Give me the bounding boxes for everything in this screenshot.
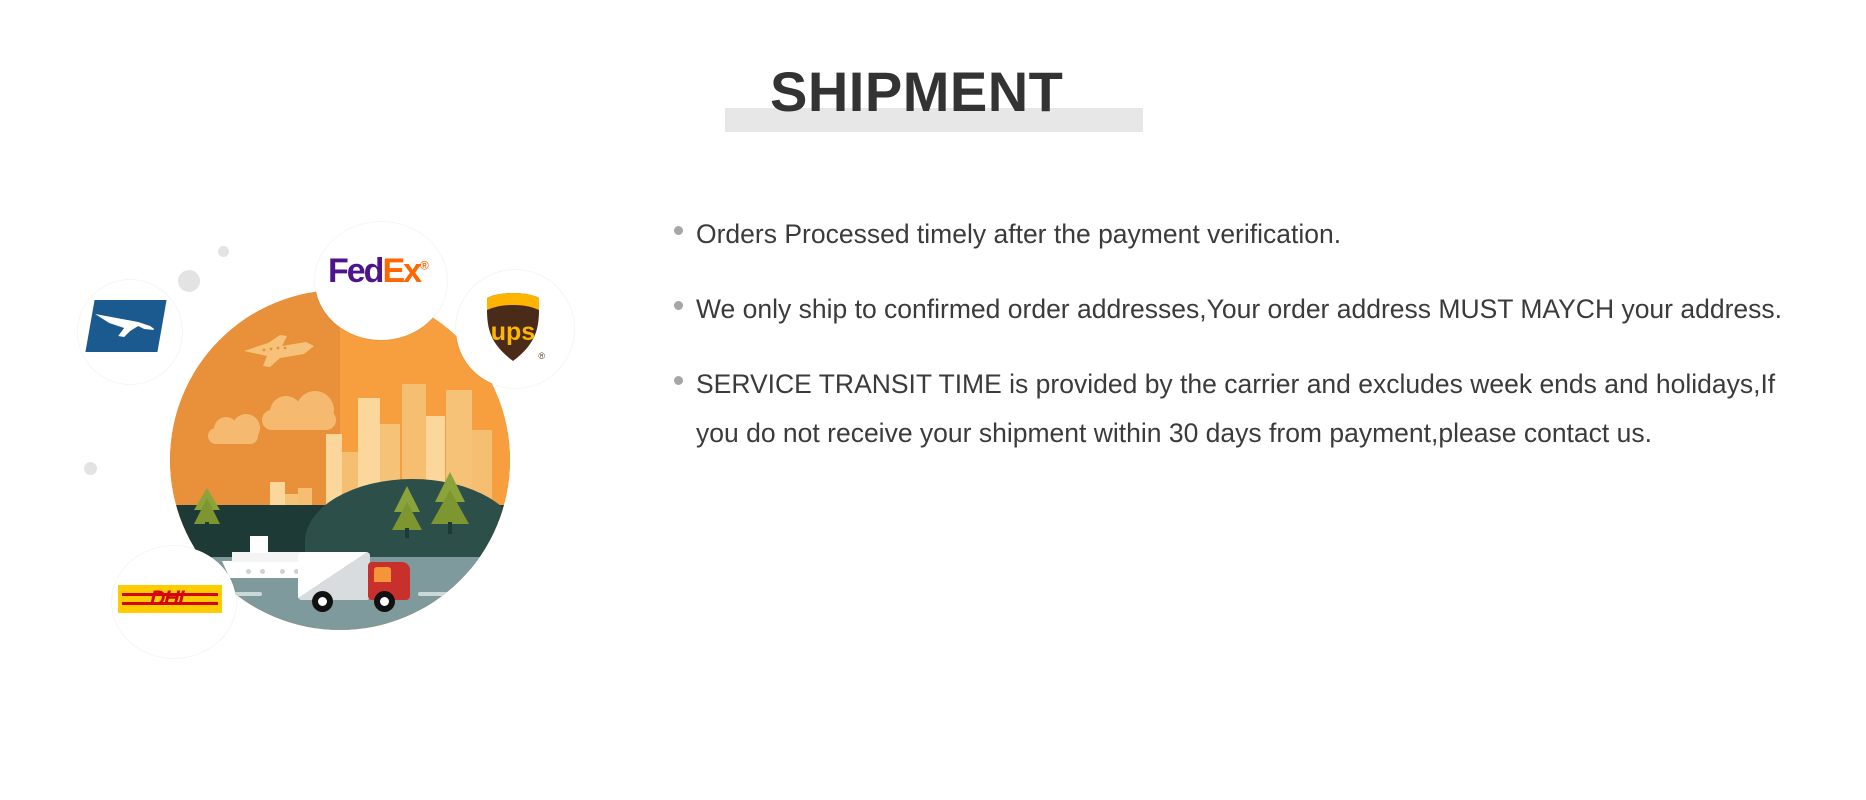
truck-wheel: [374, 591, 395, 612]
ups-logo: ups ®: [484, 292, 542, 362]
ship-cabin: [250, 536, 268, 553]
pine-tree: [392, 480, 422, 538]
decorative-dot: [84, 462, 97, 475]
ups-registered-mark: ®: [538, 351, 545, 361]
fedex-fed-text: Fed: [328, 252, 382, 290]
shipment-slide: FedEx® ups ® DHL: [0, 0, 1866, 800]
dhl-text: DHL: [149, 587, 191, 611]
bullet-text: We only ship to confirmed order addresse…: [696, 285, 1786, 334]
dhl-mark: DHL: [118, 585, 222, 613]
page-title-wrap: SHIPMENT: [725, 53, 1063, 131]
bullet-text: Orders Processed timely after the paymen…: [696, 210, 1786, 259]
bullet-list: Orders Processed timely after the paymen…: [648, 210, 1808, 484]
road-dash: [232, 592, 262, 596]
dhl-logo: DHL: [118, 585, 222, 613]
ship-deck: [232, 552, 302, 562]
ups-shield-mark: ups ®: [484, 292, 542, 362]
usps-logo: [90, 300, 162, 352]
shipment-content: SHIPMENT Orders Processed timely after t…: [648, 0, 1808, 800]
truck-wheel: [312, 591, 333, 612]
bullet-text: SERVICE TRANSIT TIME is provided by the …: [696, 360, 1786, 458]
list-item: SERVICE TRANSIT TIME is provided by the …: [648, 360, 1808, 458]
road-dash: [460, 592, 486, 596]
fedex-ex-text: Ex: [382, 252, 420, 290]
list-item: We only ship to confirmed order addresse…: [648, 285, 1808, 334]
ship-window: [246, 569, 251, 574]
bullet-dot-icon: [674, 301, 683, 310]
ship-window: [280, 569, 285, 574]
page-title: SHIPMENT: [725, 53, 1063, 131]
usps-eagle-icon: [94, 310, 158, 340]
airplane-svg: [240, 334, 316, 368]
decorative-dot: [218, 246, 229, 257]
bullet-dot-icon: [674, 376, 683, 385]
bullet-dot-icon: [674, 226, 683, 235]
truck-cargo-box: [298, 552, 370, 600]
ups-shield-svg: ups: [484, 292, 542, 362]
truck-window: [374, 567, 391, 582]
pine-tree: [432, 466, 468, 534]
fedex-registered-mark: ®: [420, 259, 429, 273]
decorative-dot: [178, 270, 200, 292]
list-item: Orders Processed timely after the paymen…: [648, 210, 1808, 259]
road-dash: [418, 592, 448, 596]
fedex-logo: FedEx®: [328, 252, 429, 291]
pine-tree: [194, 482, 220, 530]
svg-text:ups: ups: [491, 318, 535, 346]
usps-mark: [85, 300, 166, 352]
global-shipping-illustration: FedEx® ups ® DHL: [60, 230, 580, 690]
airplane-icon: [240, 334, 316, 368]
ship-window: [260, 569, 265, 574]
delivery-truck: [298, 550, 416, 612]
